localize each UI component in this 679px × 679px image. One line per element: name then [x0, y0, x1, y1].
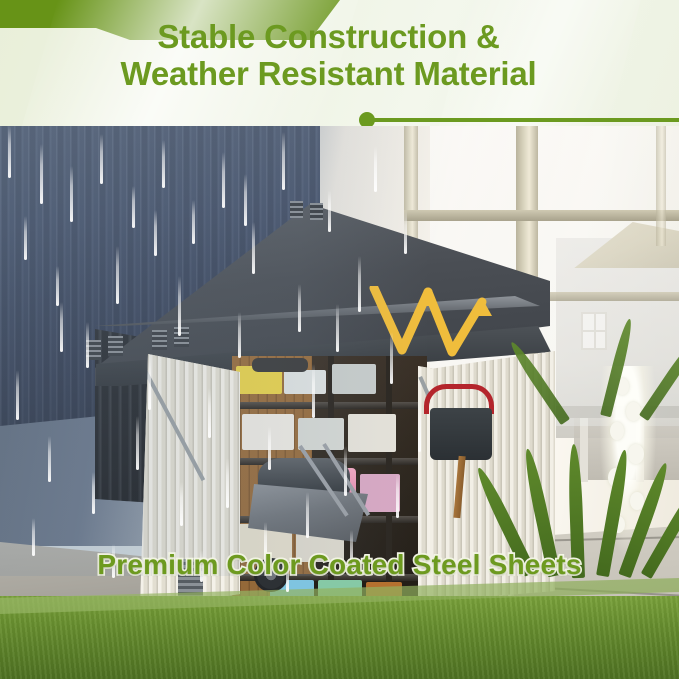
- deflection-arrow-svg: [368, 286, 508, 376]
- yucca-bloom: [610, 422, 624, 440]
- yucca-bloom: [628, 444, 644, 464]
- storage-bin: [360, 474, 400, 512]
- title-line-2: Weather Resistant Material: [0, 55, 657, 92]
- storage-bin: [348, 414, 396, 452]
- door-brace: [142, 368, 205, 481]
- product-photo: Premium Color Coated Steel Sheets › Weat…: [0, 126, 679, 679]
- storage-bin: [242, 414, 294, 450]
- header-underline: [372, 118, 679, 122]
- product-feature-banner: Stable Construction & Weather Resistant …: [0, 0, 679, 679]
- hand-tool: [252, 358, 308, 372]
- storage-bin: [284, 370, 326, 394]
- shed-vent: [310, 203, 323, 220]
- header-underline-dot: [359, 112, 375, 126]
- page-title: Stable Construction & Weather Resistant …: [0, 18, 679, 92]
- shed-vent: [290, 201, 303, 218]
- storage-bin: [298, 418, 344, 450]
- shed-vent: [152, 330, 167, 350]
- shed-vent: [86, 340, 101, 360]
- shed-vent: [108, 336, 123, 356]
- yucca-bloom: [626, 402, 641, 421]
- water-deflection-arrows: [368, 286, 508, 376]
- tool-bag: [430, 408, 492, 460]
- porch-column: [580, 418, 588, 482]
- pergola-beam: [404, 210, 679, 221]
- title-line-1: Stable Construction &: [157, 18, 499, 55]
- shed-vent: [174, 327, 189, 347]
- pergola-post: [656, 126, 666, 246]
- header-bar: Stable Construction & Weather Resistant …: [0, 0, 679, 126]
- banner-headline: Premium Color Coated Steel Sheets: [0, 549, 679, 581]
